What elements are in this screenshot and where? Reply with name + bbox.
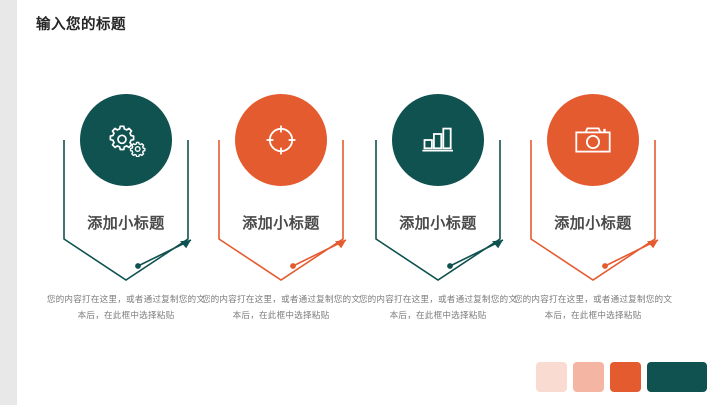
- target-icon: [264, 123, 298, 157]
- icon-circle: [235, 94, 327, 186]
- card-body-text: 您的内容打在这里，或者通过复制您的文本后，在此框中选择粘贴: [46, 292, 206, 324]
- info-card-4[interactable]: 添加小标题: [517, 94, 669, 284]
- card-label: 添加小标题: [50, 212, 202, 233]
- card-body-text: 您的内容打在这里，或者通过复制您的文本后，在此框中选择粘贴: [201, 292, 361, 324]
- card-body-text: 您的内容打在这里，或者通过复制您的文本后，在此框中选择粘贴: [513, 292, 673, 324]
- slide-canvas: 输入您的标题 添加小标题: [0, 0, 720, 405]
- swatch-teal[interactable]: [647, 362, 707, 392]
- page-title: 输入您的标题: [36, 13, 126, 34]
- camera-icon: [574, 125, 612, 155]
- card-label: 添加小标题: [205, 212, 357, 233]
- gears-icon: [105, 123, 147, 157]
- card-row: 添加小标题 添加小: [44, 94, 684, 294]
- icon-circle: [392, 94, 484, 186]
- icon-circle: [80, 94, 172, 186]
- card-label: 添加小标题: [517, 212, 669, 233]
- card-body-text: 您的内容打在这里，或者通过复制您的文本后，在此框中选择粘贴: [358, 292, 518, 324]
- swatch-orange[interactable]: [610, 362, 641, 392]
- left-gutter-strip: [0, 0, 17, 405]
- icon-circle: [547, 94, 639, 186]
- bar-chart-icon: [420, 125, 456, 155]
- info-card-1[interactable]: 添加小标题: [50, 94, 202, 284]
- swatch-pale-pink[interactable]: [536, 362, 567, 392]
- palette-swatches: [536, 362, 707, 392]
- info-card-3[interactable]: 添加小标题: [362, 94, 514, 284]
- swatch-salmon[interactable]: [573, 362, 604, 392]
- body-text-row: 您的内容打在这里，或者通过复制您的文本后，在此框中选择粘贴 您的内容打在这里，或…: [44, 292, 684, 352]
- info-card-2[interactable]: 添加小标题: [205, 94, 357, 284]
- card-label: 添加小标题: [362, 212, 514, 233]
